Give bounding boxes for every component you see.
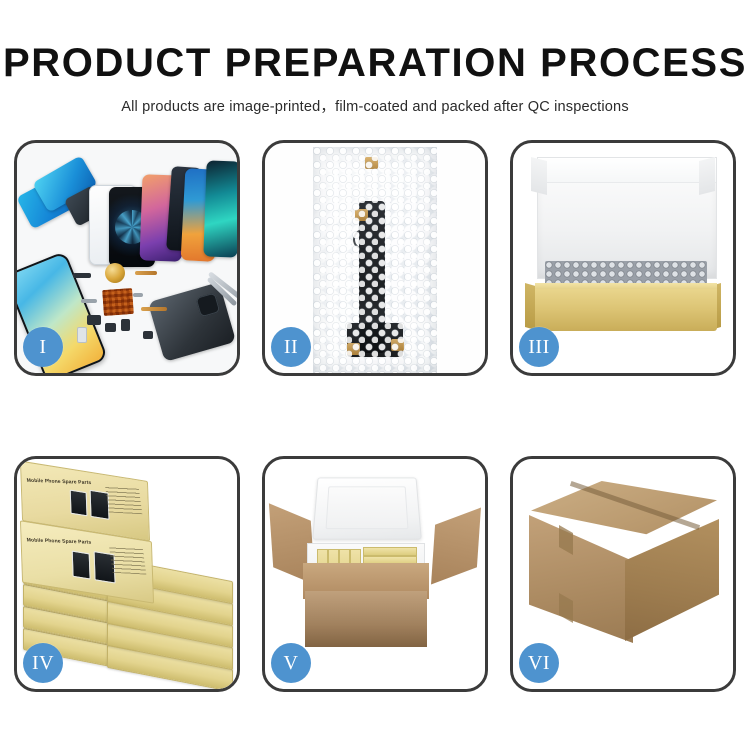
step-badge-1: I <box>23 327 63 367</box>
box-spec-lines <box>109 546 146 574</box>
box-label-text: Mobile Phone Spare Parts <box>26 537 91 545</box>
yellow-box <box>363 547 417 556</box>
step-badge-4: IV <box>23 643 63 683</box>
bubble-wrap-bag <box>313 147 437 373</box>
sim-tray-part <box>77 327 87 343</box>
page-subtitle: All products are image-printed，film-coat… <box>0 84 750 116</box>
box-screen-graphic <box>70 490 88 517</box>
gold-component <box>105 263 125 283</box>
foam-flap-right <box>699 157 715 195</box>
foam-box-lid <box>312 477 422 539</box>
box-label-text: Mobile Phone Spare Parts <box>26 478 91 486</box>
small-part <box>133 293 143 297</box>
box-screen-graphic <box>72 551 91 580</box>
page-header: PRODUCT PREPARATION PROCESS All products… <box>0 0 750 116</box>
step-card-4: Mobile Phone Spare Parts Mobile Phone Sp… <box>14 456 240 692</box>
carton-right-face <box>625 519 719 641</box>
carton-flap-right <box>431 508 481 585</box>
page-title: PRODUCT PREPARATION PROCESS <box>0 0 750 84</box>
step-badge-5: V <box>271 643 311 683</box>
step-card-1: I <box>14 140 240 376</box>
foam-flap-left <box>531 157 547 195</box>
step-card-2: II <box>262 140 488 376</box>
small-part <box>143 331 153 339</box>
step-card-5: V <box>262 456 488 692</box>
small-part <box>73 273 91 278</box>
carton-left-face <box>529 515 633 643</box>
kraft-box-front <box>535 289 717 331</box>
carton-front-face <box>305 591 427 647</box>
small-part <box>105 323 116 332</box>
box-spec-lines <box>105 486 142 514</box>
step-badge-6: VI <box>519 643 559 683</box>
copper-chip-grid <box>102 288 134 316</box>
step-badge-3: III <box>519 327 559 367</box>
bubble-texture <box>313 147 437 373</box>
small-part <box>87 315 101 325</box>
small-part <box>121 319 130 331</box>
process-steps-grid: I II III <box>14 140 736 692</box>
step-badge-2: II <box>271 327 311 367</box>
flex-cable-part <box>135 271 157 275</box>
small-part <box>81 299 97 303</box>
teal-phone-display <box>203 160 237 257</box>
flex-cable-part <box>141 307 167 311</box>
step-card-3: III <box>510 140 736 376</box>
step-card-6: VI <box>510 456 736 692</box>
